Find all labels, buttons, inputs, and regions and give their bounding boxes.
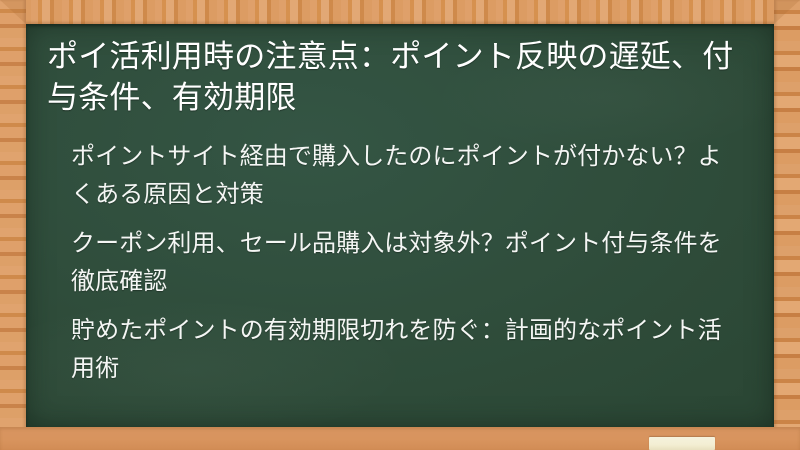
frame-rail-right [774, 0, 800, 450]
topic-list: ポイントサイト経由で購入したのにポイントが付かない？よくある原因と対策 クーポン… [47, 138, 754, 388]
frame-corner-top-right [774, 0, 800, 24]
frame-corner-top-left [0, 0, 26, 24]
list-item: ポイントサイト経由で購入したのにポイントが付かない？よくある原因と対策 [71, 138, 744, 214]
blackboard-surface: ポイ活利用時の注意点：ポイント反映の遅延、付与条件、有効期限 ポイントサイト経由… [26, 24, 774, 427]
list-item: 貯めたポイントの有効期限切れを防ぐ：計画的なポイント活用術 [71, 312, 744, 388]
blackboard-content: ポイ活利用時の注意点：ポイント反映の遅延、付与条件、有効期限 ポイントサイト経由… [26, 24, 774, 427]
frame-rail-left [0, 0, 26, 450]
chalk-stick-icon [649, 437, 715, 450]
page-title: ポイ活利用時の注意点：ポイント反映の遅延、付与条件、有効期限 [47, 32, 754, 118]
list-item: クーポン利用、セール品購入は対象外？ポイント付与条件を徹底確認 [71, 225, 744, 301]
frame-rail-top [0, 0, 800, 24]
blackboard-frame: ポイ活利用時の注意点：ポイント反映の遅延、付与条件、有効期限 ポイントサイト経由… [0, 0, 800, 450]
